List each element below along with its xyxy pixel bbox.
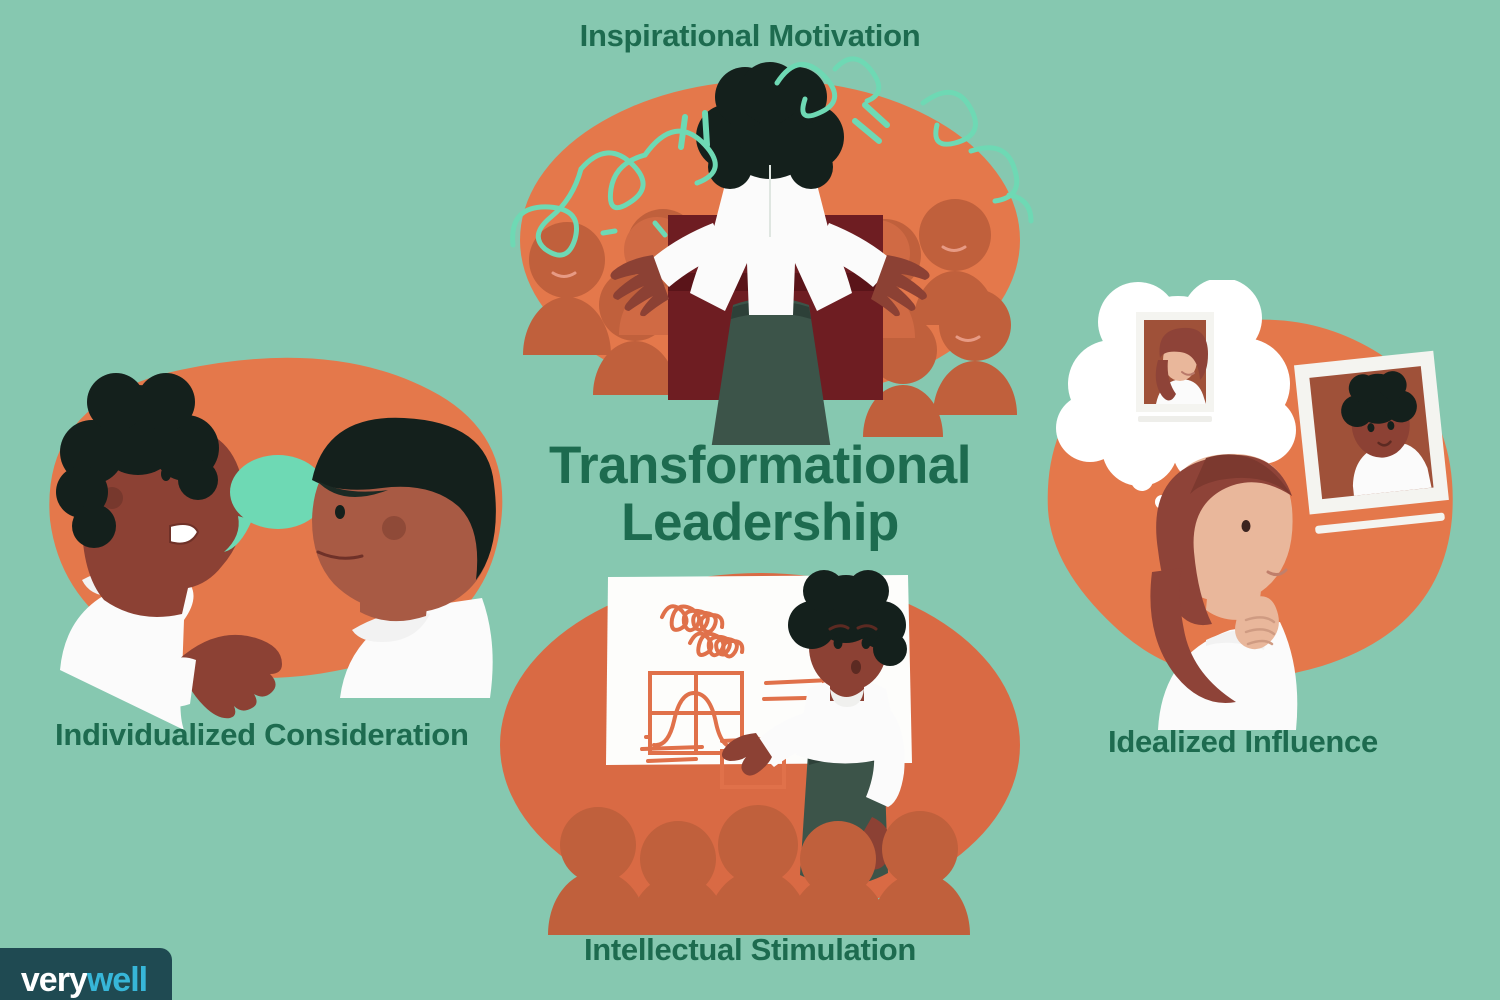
speaker-crowd-svg <box>505 55 1035 445</box>
label-intellectual-stimulation: Intellectual Stimulation <box>0 932 1500 968</box>
role-model-portrait-svg <box>1030 280 1470 730</box>
presenter-whiteboard-svg <box>490 555 1030 935</box>
label-idealized-influence: Idealized Influence <box>1108 724 1378 760</box>
illustration-individualized-consideration <box>20 330 520 730</box>
illustration-idealized-influence <box>1030 280 1470 730</box>
page-title: Transformational Leadership <box>520 437 1000 551</box>
two-people-conversation-svg <box>20 330 520 730</box>
illustration-intellectual-stimulation <box>490 555 1030 935</box>
logo-word-very: very <box>21 961 87 999</box>
verywell-logo[interactable]: verywell <box>0 948 172 1000</box>
label-inspirational-motivation: Inspirational Motivation <box>0 18 1500 54</box>
illustration-inspirational-motivation <box>505 55 1035 445</box>
label-individualized-consideration: Individualized Consideration <box>55 717 469 753</box>
infographic-canvas: Inspirational Motivation <box>0 0 1500 1000</box>
verywell-logo-text: verywell <box>11 963 147 997</box>
logo-word-well: well <box>87 961 147 999</box>
